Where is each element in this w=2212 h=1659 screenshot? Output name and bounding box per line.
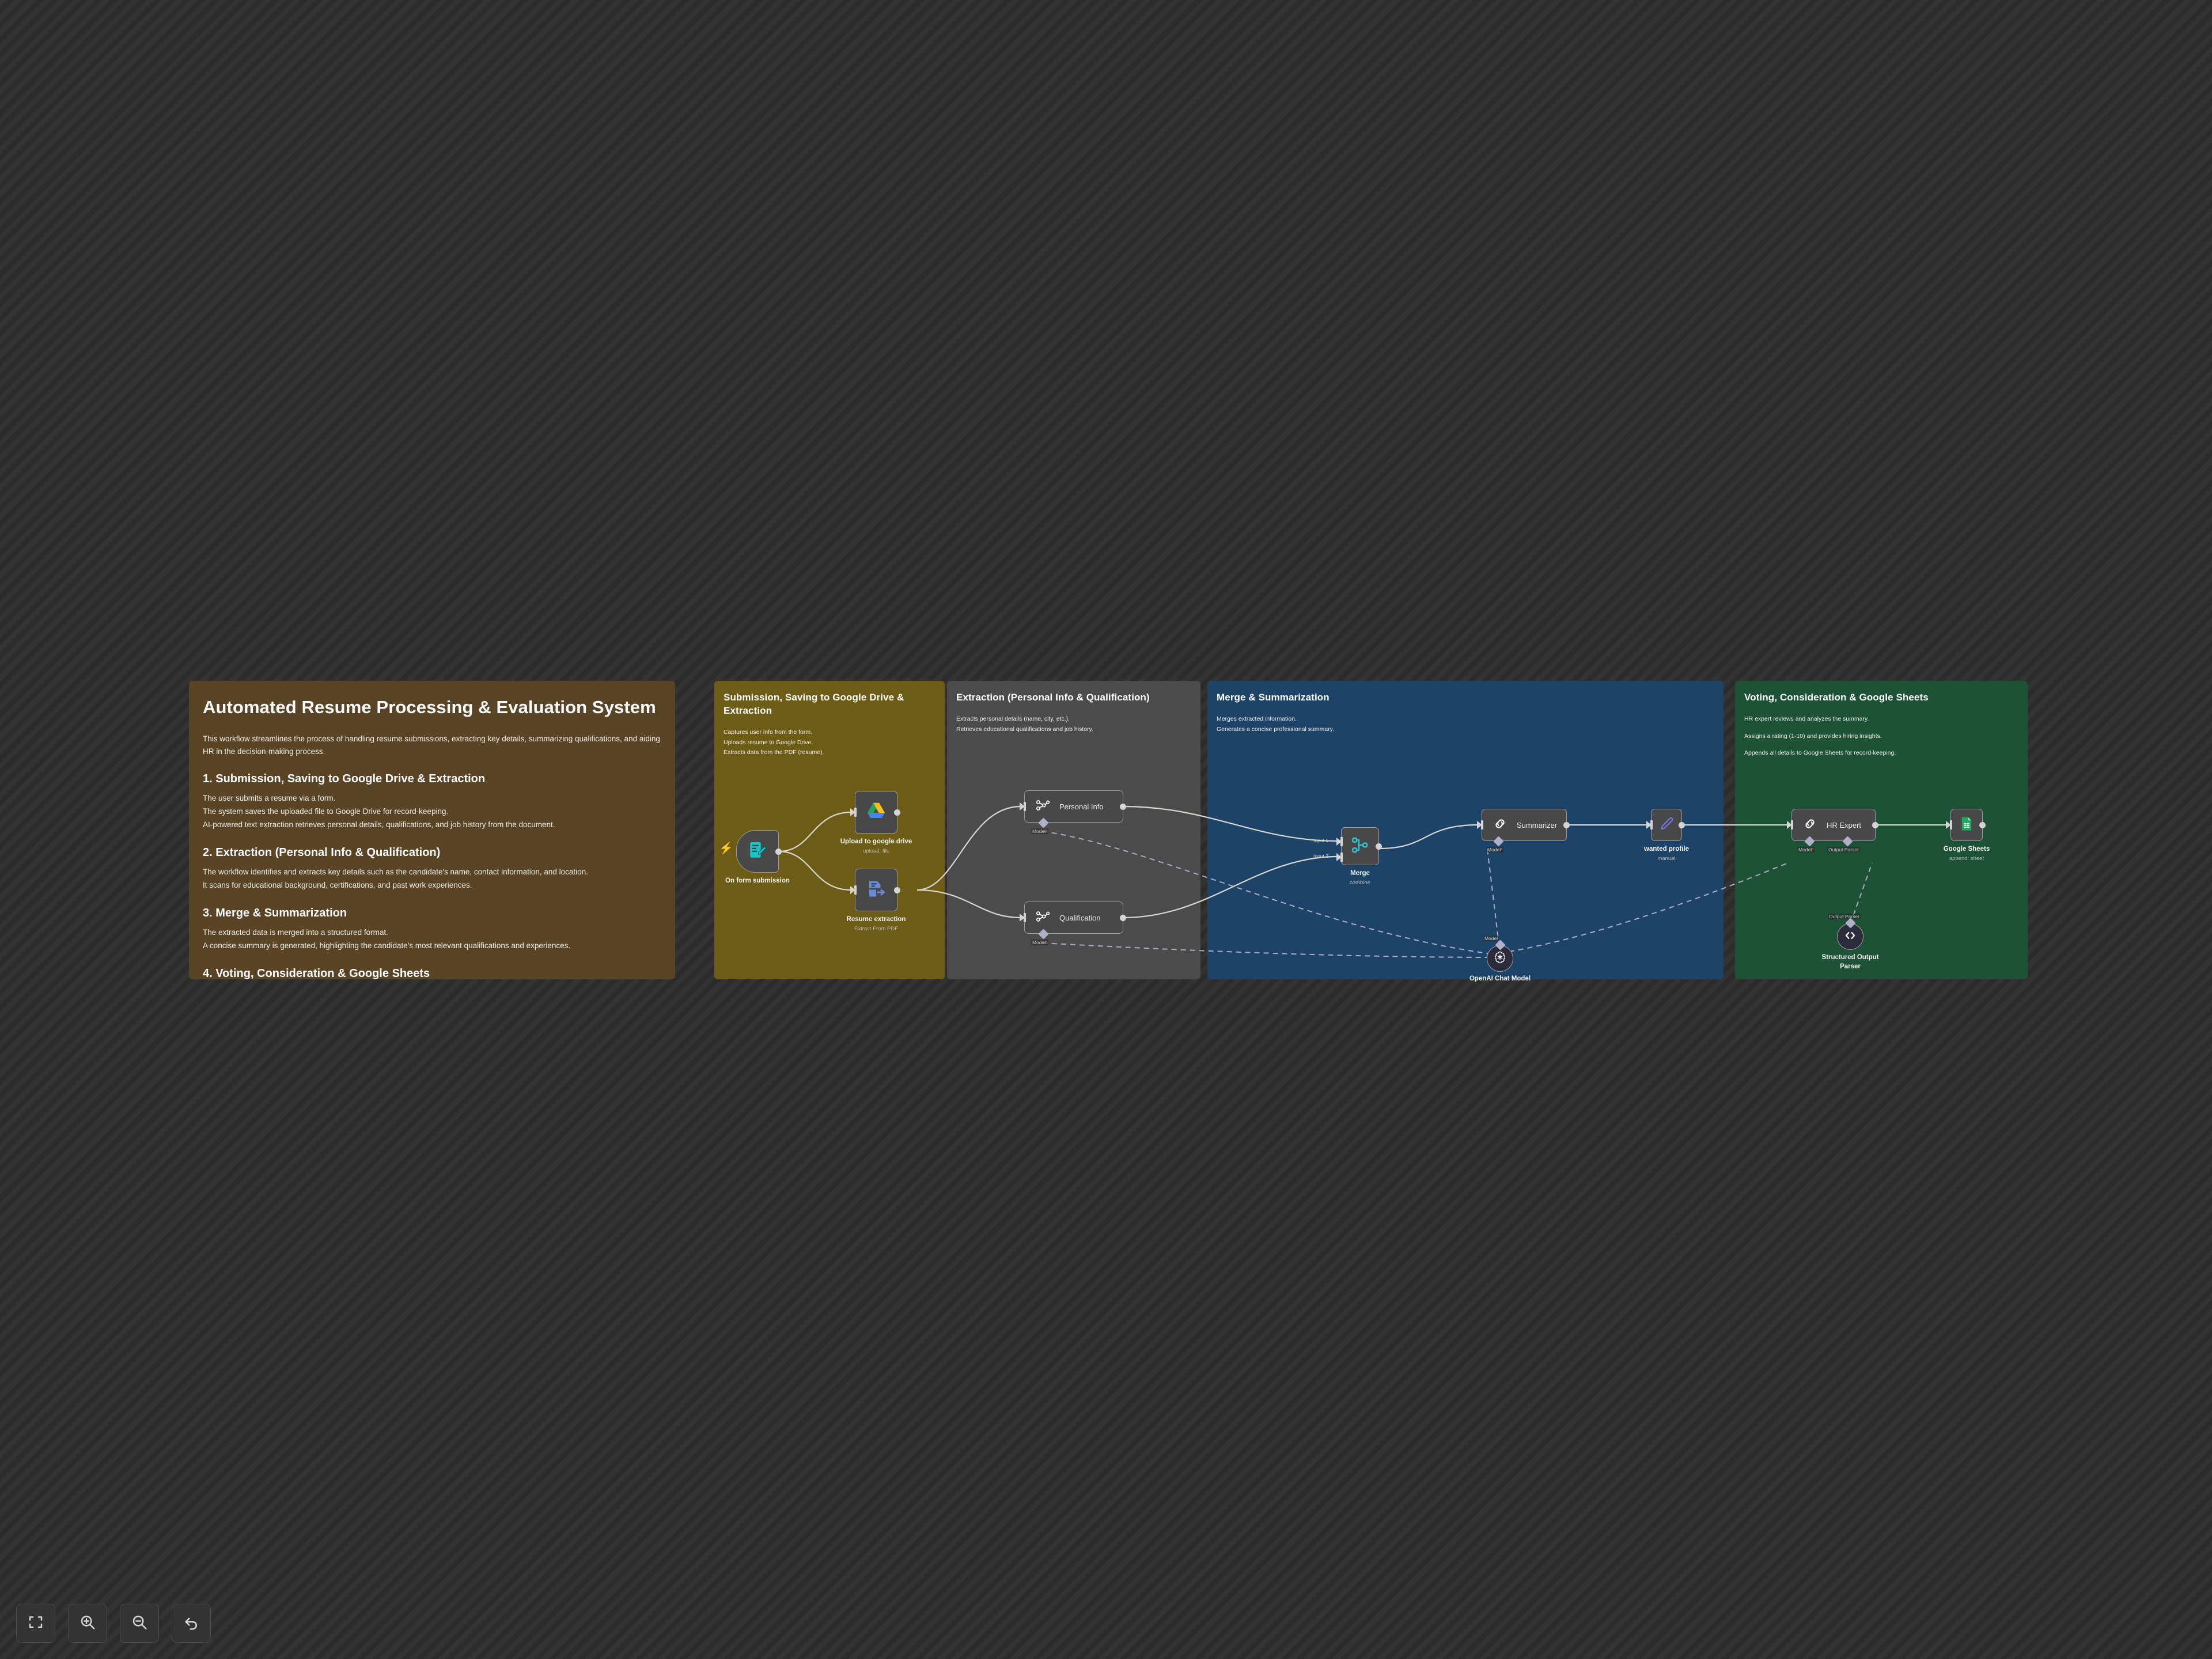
overview-section-heading-4: 4. Voting, Consideration & Google Sheets <box>203 967 661 979</box>
overview-line: The workflow identifies and extracts key… <box>203 866 661 878</box>
node-label-upload-drive: Upload to google drive <box>840 838 912 845</box>
output-connector[interactable] <box>1979 822 1986 828</box>
overview-section-body-2: The workflow identifies and extracts key… <box>203 866 661 892</box>
node-structured-output-parser[interactable]: Output Parser Structured Output Parser <box>1837 923 1863 950</box>
node-sublabel-google-sheets: append: sheet <box>1949 855 1984 862</box>
fit-screen-icon <box>27 1613 44 1634</box>
panel-3-body: Merges extracted information. Generates … <box>1217 715 1714 734</box>
node-google-sheets[interactable]: Google Sheets append: sheet <box>1950 809 1983 841</box>
google-sheets-icon <box>1959 816 1975 835</box>
workflow-canvas[interactable]: Automated Resume Processing & Evaluation… <box>0 0 2212 1659</box>
zoom-in-button[interactable] <box>68 1604 107 1643</box>
node-label-merge: Merge <box>1350 870 1370 877</box>
panel-1-body: Captures user info from the form. Upload… <box>724 728 935 757</box>
panel-2-body: Extracts personal details (name, city, e… <box>956 715 1191 734</box>
sticky-note-extraction[interactable]: Extraction (Personal Info & Qualificatio… <box>947 681 1200 979</box>
merge-icon <box>1351 836 1369 857</box>
output-connector[interactable] <box>1120 915 1126 921</box>
node-on-form-submission[interactable]: ⚡ On form submission <box>736 830 779 873</box>
overview-line: The system saves the uploaded file to Go… <box>203 806 661 818</box>
port-label-model: Model* <box>1031 940 1048 945</box>
panel-4-body: HR expert reviews and analyzes the summa… <box>1744 715 2018 758</box>
trigger-bolt-icon: ⚡ <box>719 843 733 854</box>
panel-4-title: Voting, Consideration & Google Sheets <box>1744 691 2018 704</box>
node-title-personal-info: Personal Info <box>1059 802 1104 811</box>
input-label-1: Input 1 <box>1313 838 1328 843</box>
sticky-note-merge-summarization[interactable]: Merge & Summarization Merges extracted i… <box>1207 681 1724 979</box>
overview-section-heading-1: 1. Submission, Saving to Google Drive & … <box>203 772 661 786</box>
panel-line: Captures user info from the form. <box>724 728 935 737</box>
port-label-model: Model* <box>1486 847 1503 853</box>
node-label-google-sheets: Google Sheets <box>1944 846 1990 853</box>
zoom-out-icon <box>131 1613 148 1634</box>
port-label-output-parser: Output Parser <box>1827 847 1860 853</box>
form-trigger-icon <box>748 840 767 863</box>
panel-line: HR expert reviews and analyzes the summa… <box>1744 715 2018 724</box>
google-drive-icon <box>866 801 887 824</box>
information-extractor-icon <box>1035 909 1050 927</box>
node-summarizer[interactable]: Summarizer Model* <box>1482 809 1567 841</box>
overview-line: The user submits a resume via a form. <box>203 793 661 805</box>
node-sublabel-merge: combine <box>1350 880 1370 886</box>
reset-zoom-button[interactable] <box>172 1604 211 1643</box>
node-title-qualification: Qualification <box>1059 914 1101 922</box>
canvas-zoom-toolbar[interactable] <box>16 1604 211 1643</box>
node-wanted-profile[interactable]: wanted profile manual <box>1651 809 1682 841</box>
zoom-out-button[interactable] <box>120 1604 159 1643</box>
port-label-model: Model <box>1483 935 1499 941</box>
panel-3-title: Merge & Summarization <box>1217 691 1714 704</box>
overview-line: AI-powered text extraction retrieves per… <box>203 819 661 831</box>
node-title-hr-expert: HR Expert <box>1827 821 1861 829</box>
node-qualification[interactable]: Qualification Model* <box>1024 902 1123 934</box>
port-label-model: Model* <box>1031 828 1048 834</box>
panel-line: Extracts personal details (name, city, e… <box>956 715 1191 724</box>
undo-arrow-icon <box>183 1613 200 1634</box>
input-label-2: Input 2 <box>1313 853 1328 859</box>
panel-line: Assigns a rating (1-10) and provides hir… <box>1744 732 2018 741</box>
overview-title: Automated Resume Processing & Evaluation… <box>203 697 661 718</box>
port-label-model: Model* <box>1797 847 1815 853</box>
panel-line: Generates a concise professional summary… <box>1217 725 1714 734</box>
node-resume-extraction[interactable]: Resume extraction Extract From PDF <box>855 869 897 911</box>
node-sublabel-upload-drive: upload: file <box>863 848 889 854</box>
information-extractor-icon <box>1035 798 1050 816</box>
sticky-note-voting[interactable]: Voting, Consideration & Google Sheets HR… <box>1735 681 2028 979</box>
node-hr-expert[interactable]: HR Expert Model* Output Parser <box>1791 809 1876 841</box>
overview-line: The extracted data is merged into a stru… <box>203 927 661 939</box>
overview-line: A concise summary is generated, highligh… <box>203 940 661 952</box>
node-openai-chat-model[interactable]: Model OpenAI Chat Model <box>1487 945 1513 972</box>
panel-line: Appends all details to Google Sheets for… <box>1744 749 2018 758</box>
overview-line: It scans for educational background, cer… <box>203 880 661 892</box>
node-merge[interactable]: Input 1 Input 2 Merge combine <box>1341 827 1379 865</box>
extract-from-pdf-icon <box>866 878 887 902</box>
panel-line: Uploads resume to Google Drive. <box>724 738 935 748</box>
panel-line: Extracts data from the PDF (resume). <box>724 748 935 757</box>
panel-line: Retrieves educational qualifications and… <box>956 725 1191 734</box>
output-connector[interactable] <box>1376 843 1382 850</box>
overview-section-body-1: The user submits a resume via a form. Th… <box>203 793 661 831</box>
code-brackets-icon <box>1843 928 1858 946</box>
output-connector[interactable] <box>894 887 900 893</box>
node-label-resume-extraction: Resume extraction <box>847 916 906 923</box>
output-connector[interactable] <box>1120 804 1126 810</box>
node-label-structured-output-parser: Structured Output Parser <box>1813 953 1888 971</box>
node-title-summarizer: Summarizer <box>1517 821 1557 829</box>
port-label-output-parser: Output Parser <box>1828 914 1861 919</box>
node-sublabel-resume-extraction: Extract From PDF <box>854 926 898 932</box>
output-connector[interactable] <box>894 809 900 816</box>
output-connector[interactable] <box>1679 822 1685 828</box>
zoom-in-icon <box>79 1613 96 1634</box>
sticky-note-overview[interactable]: Automated Resume Processing & Evaluation… <box>189 681 675 979</box>
overview-section-heading-2: 2. Extraction (Personal Info & Qualifica… <box>203 846 661 859</box>
node-personal-info[interactable]: Personal Info Model* <box>1024 790 1123 823</box>
node-upload-to-google-drive[interactable]: Upload to google drive upload: file <box>855 791 897 834</box>
fit-to-view-button[interactable] <box>16 1604 55 1643</box>
chain-llm-icon <box>1493 816 1508 834</box>
output-connector[interactable] <box>1872 822 1878 828</box>
output-connector[interactable] <box>775 849 782 855</box>
overview-section-heading-3: 3. Merge & Summarization <box>203 907 661 920</box>
node-label-wanted-profile: wanted profile <box>1644 846 1689 853</box>
openai-icon <box>1493 950 1508 968</box>
edit-fields-icon <box>1659 816 1674 834</box>
node-label-openai-chat-model: OpenAI Chat Model <box>1469 975 1531 982</box>
output-connector[interactable] <box>1563 822 1570 828</box>
chain-llm-icon <box>1802 816 1817 834</box>
overview-section-body-3: The extracted data is merged into a stru… <box>203 927 661 952</box>
panel-line: Merges extracted information. <box>1217 715 1714 724</box>
node-sublabel-wanted-profile: manual <box>1657 855 1675 862</box>
node-label-on-form-submission: On form submission <box>725 877 790 884</box>
overview-intro: This workflow streamlines the process of… <box>203 733 661 757</box>
panel-1-title: Submission, Saving to Google Drive & Ext… <box>724 691 935 718</box>
panel-2-title: Extraction (Personal Info & Qualificatio… <box>956 691 1191 704</box>
